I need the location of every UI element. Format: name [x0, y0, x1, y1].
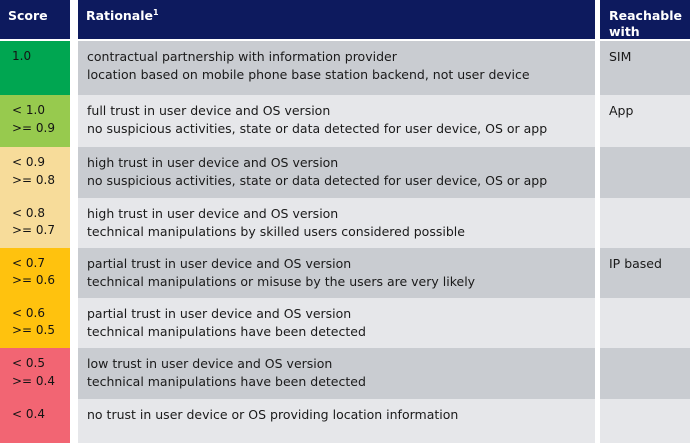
- column-header-score: Score: [0, 0, 70, 39]
- score-line: >= 0.8: [12, 172, 70, 189]
- score-line: < 0.5: [12, 355, 70, 372]
- reachable-with-cell: App: [600, 95, 690, 147]
- row-gap-1: [70, 399, 78, 443]
- row-gap-1: [70, 147, 78, 197]
- rationale-cell: high trust in user device and OS version…: [78, 147, 595, 197]
- reachable-with-cell: [600, 348, 690, 398]
- rationale-line: no suspicious activities, state or data …: [87, 172, 589, 190]
- column-header-rationale: Rationale1: [78, 0, 595, 39]
- table-row: < 0.4no trust in user device or OS provi…: [0, 399, 690, 443]
- table-row: < 0.7>= 0.6partial trust in user device …: [0, 248, 690, 298]
- rationale-line: no suspicious activities, state or data …: [87, 120, 589, 138]
- rationale-line: low trust in user device and OS version: [87, 355, 589, 373]
- table-row: < 0.9>= 0.8high trust in user device and…: [0, 147, 690, 197]
- score-cell: < 0.9>= 0.8: [0, 147, 70, 197]
- rationale-cell: high trust in user device and OS version…: [78, 198, 595, 248]
- score-line: < 0.7: [12, 255, 70, 272]
- score-line: >= 0.9: [12, 120, 70, 137]
- score-cell: < 0.8>= 0.7: [0, 198, 70, 248]
- table-row: < 0.8>= 0.7high trust in user device and…: [0, 198, 690, 248]
- reachable-with-cell: [600, 147, 690, 197]
- reachable-with-cell: [600, 198, 690, 248]
- score-line: < 0.6: [12, 305, 70, 322]
- score-table-container: Score Rationale1 Reachable with 1.0contr…: [0, 0, 690, 448]
- column-header-reachable-line2: with: [609, 24, 640, 39]
- rationale-line: high trust in user device and OS version: [87, 154, 589, 172]
- reachable-with-cell: SIM: [600, 41, 690, 95]
- rationale-line: no trust in user device or OS providing …: [87, 406, 589, 424]
- row-gap-1: [70, 95, 78, 147]
- reachable-with-cell: IP based: [600, 248, 690, 298]
- rationale-cell: contractual partnership with information…: [78, 41, 595, 95]
- rationale-cell: low trust in user device and OS versiont…: [78, 348, 595, 398]
- score-line: < 0.9: [12, 154, 70, 171]
- score-cell: < 0.5>= 0.4: [0, 348, 70, 398]
- score-cell: < 1.0>= 0.9: [0, 95, 70, 147]
- header-gap-1: [70, 0, 78, 39]
- score-line: < 0.4: [12, 406, 70, 423]
- score-line: >= 0.6: [12, 272, 70, 289]
- score-cell: < 0.6>= 0.5: [0, 298, 70, 348]
- score-line: >= 0.5: [12, 322, 70, 339]
- table-header: Score Rationale1 Reachable with: [0, 0, 690, 39]
- rationale-cell: full trust in user device and OS version…: [78, 95, 595, 147]
- column-header-reachable-line1: Reachable: [609, 8, 682, 23]
- rationale-line: contractual partnership with information…: [87, 48, 589, 66]
- column-header-rationale-label: Rationale: [86, 8, 153, 23]
- rationale-line: technical manipulations or misuse by the…: [87, 273, 589, 291]
- rationale-line: technical manipulations have been detect…: [87, 323, 589, 341]
- score-cell: 1.0: [0, 41, 70, 95]
- row-gap-1: [70, 198, 78, 248]
- table-body: 1.0contractual partnership with informat…: [0, 39, 690, 442]
- rationale-line: full trust in user device and OS version: [87, 102, 589, 120]
- rationale-cell: no trust in user device or OS providing …: [78, 399, 595, 443]
- score-line: < 1.0: [12, 102, 70, 119]
- rationale-line: location based on mobile phone base stat…: [87, 66, 589, 84]
- rationale-line: partial trust in user device and OS vers…: [87, 305, 589, 323]
- row-gap-1: [70, 248, 78, 298]
- rationale-line: technical manipulations by skilled users…: [87, 223, 589, 241]
- row-gap-1: [70, 298, 78, 348]
- table-row: < 0.6>= 0.5partial trust in user device …: [0, 298, 690, 348]
- score-line: >= 0.4: [12, 373, 70, 390]
- score-line: 1.0: [12, 48, 70, 65]
- rationale-cell: partial trust in user device and OS vers…: [78, 248, 595, 298]
- rationale-line: partial trust in user device and OS vers…: [87, 255, 589, 273]
- table-row: 1.0contractual partnership with informat…: [0, 41, 690, 95]
- reachable-with-cell: [600, 298, 690, 348]
- column-header-reachable-with: Reachable with: [600, 0, 690, 39]
- table-row: < 1.0>= 0.9full trust in user device and…: [0, 95, 690, 147]
- table-row: < 0.5>= 0.4low trust in user device and …: [0, 348, 690, 398]
- reachable-with-cell: [600, 399, 690, 443]
- score-cell: < 0.4: [0, 399, 70, 443]
- rationale-cell: partial trust in user device and OS vers…: [78, 298, 595, 348]
- score-line: >= 0.7: [12, 222, 70, 239]
- row-gap-1: [70, 348, 78, 398]
- rationale-line: high trust in user device and OS version: [87, 205, 589, 223]
- row-gap-1: [70, 41, 78, 95]
- rationale-line: technical manipulations have been detect…: [87, 373, 589, 391]
- footnote-marker: 1: [153, 8, 159, 17]
- score-cell: < 0.7>= 0.6: [0, 248, 70, 298]
- trust-score-table: Score Rationale1 Reachable with 1.0contr…: [0, 0, 690, 443]
- header-row: Score Rationale1 Reachable with: [0, 0, 690, 39]
- score-line: < 0.8: [12, 205, 70, 222]
